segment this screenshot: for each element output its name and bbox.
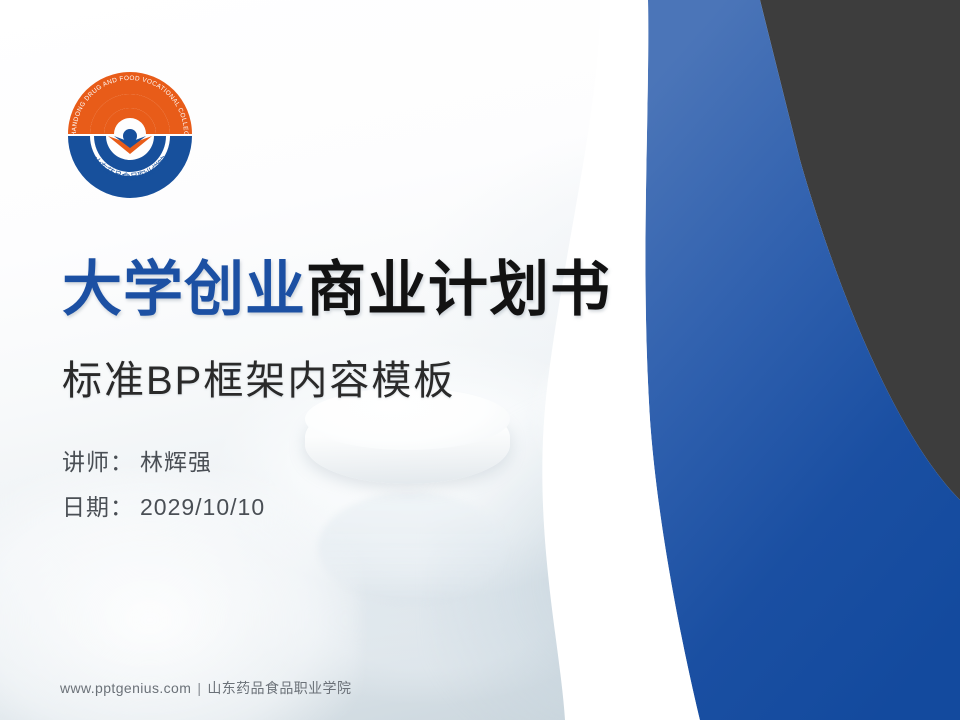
footer-organization: 山东药品食品职业学院	[207, 680, 351, 696]
slide-footer: www.pptgenius.com|山东药品食品职业学院	[60, 678, 351, 698]
slide-meta-block: 讲师：林辉强 日期：2029/10/10	[62, 440, 265, 530]
date-value: 2029/10/10	[140, 494, 265, 520]
presenter-value: 林辉强	[140, 449, 212, 475]
presenter-label: 讲师：	[62, 449, 134, 475]
title-slide: SHANDONG DRUG AND FOOD VOCATIONAL COLLEG…	[0, 0, 960, 720]
college-logo: SHANDONG DRUG AND FOOD VOCATIONAL COLLEG…	[60, 62, 200, 202]
presenter-row: 讲师：林辉强	[62, 440, 265, 485]
date-label: 日期：	[62, 494, 134, 520]
footer-website: www.pptgenius.com	[60, 680, 191, 696]
slide-title-accent: 大学创业	[62, 256, 306, 323]
slide-title: 大学创业商业计划书	[62, 258, 611, 321]
photo-pill-reflection	[318, 492, 506, 604]
photo-pill-background	[540, 330, 790, 500]
date-row: 日期：2029/10/10	[62, 485, 265, 530]
footer-separator: |	[197, 680, 201, 696]
slide-title-plain: 商业计划书	[306, 256, 611, 323]
slide-subtitle: 标准BP框架内容模板	[62, 348, 455, 406]
